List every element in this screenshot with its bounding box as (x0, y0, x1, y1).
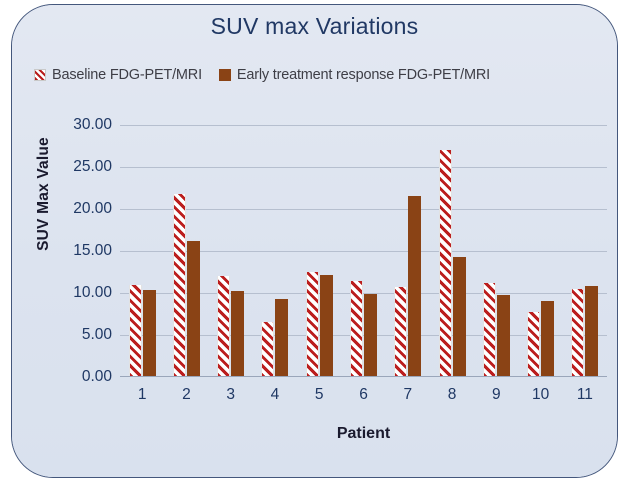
bar-group (563, 125, 607, 377)
y-axis-tick-label: 0.00 (52, 368, 112, 386)
y-axis-tick-label: 5.00 (52, 326, 112, 344)
bar-early-treatment-response[interactable] (453, 257, 466, 377)
x-axis-tick-label: 7 (403, 386, 412, 404)
bar-group (430, 125, 474, 377)
bar-group (253, 125, 297, 377)
bar-baseline[interactable] (483, 283, 496, 377)
bar-baseline[interactable] (129, 285, 142, 377)
bar-group (386, 125, 430, 377)
chart-panel: SUV max Variations Baseline FDG-PET/MRI … (11, 4, 618, 478)
bar-group (164, 125, 208, 377)
bar-baseline[interactable] (439, 150, 452, 377)
x-axis-tick-label: 9 (492, 386, 501, 404)
x-axis-tick-label: 5 (315, 386, 324, 404)
bar-early-treatment-response[interactable] (541, 301, 554, 377)
bar-group (474, 125, 518, 377)
x-axis-tick-label: 3 (226, 386, 235, 404)
y-axis-tick-label: 15.00 (52, 242, 112, 260)
bar-early-treatment-response[interactable] (497, 295, 510, 377)
bar-baseline[interactable] (394, 287, 407, 377)
bar-group (341, 125, 385, 377)
legend-item-early-treatment-response[interactable]: Early treatment response FDG-PET/MRI (219, 67, 490, 83)
bar-baseline[interactable] (306, 272, 319, 377)
bar-early-treatment-response[interactable] (143, 290, 156, 377)
legend-swatch-baseline-icon (34, 69, 46, 81)
chart-screenshot: SUV max Variations Baseline FDG-PET/MRI … (0, 0, 629, 482)
x-axis-tick-label: 11 (577, 386, 593, 404)
y-axis-tick-label: 20.00 (52, 200, 112, 218)
x-axis-tick-label: 4 (271, 386, 280, 404)
x-axis-tick-label: 8 (448, 386, 457, 404)
x-axis-tick-label: 6 (359, 386, 368, 404)
bar-early-treatment-response[interactable] (320, 275, 333, 377)
bar-early-treatment-response[interactable] (275, 299, 288, 377)
bar-baseline[interactable] (261, 322, 274, 377)
plot-area (120, 125, 607, 377)
y-axis-tick-label: 30.00 (52, 116, 112, 134)
x-axis-tick-labels: 1234567891011 (120, 386, 607, 412)
bar-baseline[interactable] (173, 194, 186, 377)
bar-group (120, 125, 164, 377)
bar-baseline[interactable] (527, 312, 540, 377)
legend-label-early-treatment-response: Early treatment response FDG-PET/MRI (237, 67, 490, 83)
x-axis-tick-label: 1 (138, 386, 147, 404)
bar-baseline[interactable] (571, 289, 584, 377)
bar-early-treatment-response[interactable] (585, 286, 598, 377)
bar-baseline[interactable] (217, 276, 230, 377)
bar-early-treatment-response[interactable] (364, 294, 377, 377)
bar-group (518, 125, 562, 377)
y-axis-tick-labels: 0.005.0010.0015.0020.0025.0030.00 (48, 5, 112, 478)
x-axis-line (120, 376, 607, 377)
x-axis-tick-label: 10 (532, 386, 549, 404)
y-axis-tick-label: 10.00 (52, 284, 112, 302)
bar-group (209, 125, 253, 377)
bar-early-treatment-response[interactable] (187, 241, 200, 377)
bar-early-treatment-response[interactable] (408, 196, 421, 377)
x-axis-tick-label: 2 (182, 386, 191, 404)
bar-early-treatment-response[interactable] (231, 291, 244, 377)
legend-swatch-response-icon (219, 69, 231, 81)
y-axis-title: SUV Max Value (35, 104, 53, 284)
x-axis-title: Patient (120, 425, 607, 443)
y-axis-tick-label: 25.00 (52, 158, 112, 176)
bar-baseline[interactable] (350, 281, 363, 377)
bar-group (297, 125, 341, 377)
